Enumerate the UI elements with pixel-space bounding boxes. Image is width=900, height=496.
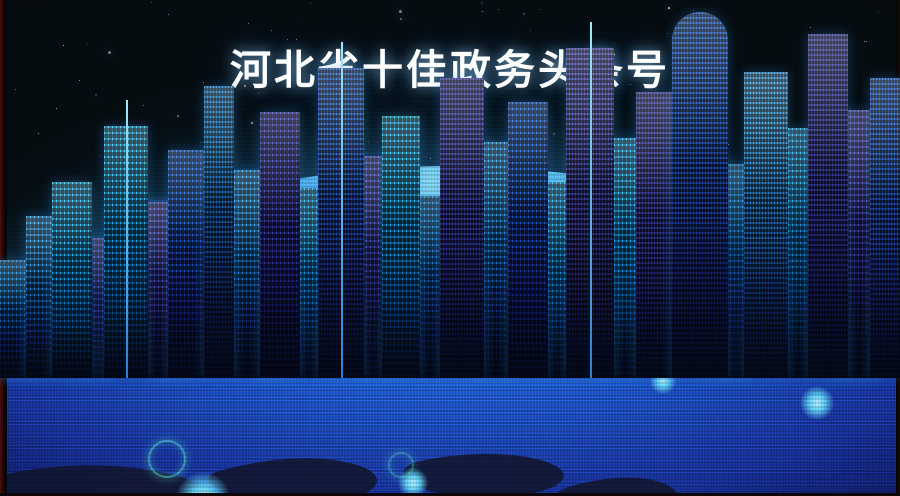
globe-glow-node — [800, 386, 834, 420]
building — [382, 116, 420, 378]
building-antenna — [341, 42, 343, 378]
building — [260, 112, 300, 378]
building — [508, 102, 548, 378]
globe-ring-marker — [388, 452, 414, 478]
building-antenna — [590, 22, 592, 378]
building — [744, 72, 788, 378]
building — [672, 12, 728, 378]
globe-ring-marker — [148, 440, 186, 478]
building — [204, 86, 234, 378]
building — [52, 182, 92, 378]
left-edge-stripe — [0, 0, 7, 496]
presentation-slide: 河北省十佳政务头条号 河北省人民检察院 河北发布 清风普法 保定公安 石家庄普法… — [0, 0, 900, 496]
building-antenna — [126, 100, 128, 378]
building — [440, 78, 484, 378]
building — [870, 78, 900, 378]
building — [808, 34, 848, 378]
